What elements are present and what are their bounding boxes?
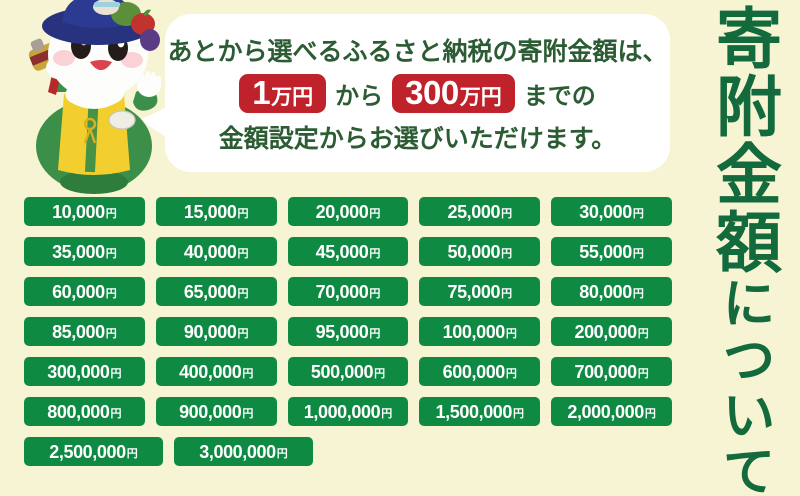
yen-unit: 円: [633, 209, 644, 220]
min-amount-unit: 万円: [271, 87, 313, 108]
yen-unit: 円: [106, 329, 117, 340]
yen-unit: 円: [645, 409, 656, 420]
amount-button-1000000[interactable]: 1,000,000円: [288, 397, 409, 426]
amount-button-700000[interactable]: 700,000円: [551, 357, 672, 386]
vertical-title-char: い: [723, 392, 775, 444]
range-suffix: までの: [524, 76, 596, 111]
amount-button-900000[interactable]: 900,000円: [156, 397, 277, 426]
amount-value: 55,000: [579, 243, 632, 261]
amount-value: 100,000: [443, 323, 505, 341]
yen-unit: 円: [369, 329, 380, 340]
vertical-title-char: 寄: [716, 8, 782, 74]
amount-button-2500000[interactable]: 2,500,000円: [24, 437, 163, 466]
amount-button-100000[interactable]: 100,000円: [419, 317, 540, 346]
amount-value: 400,000: [179, 363, 241, 381]
amount-row: 300,000円400,000円500,000円600,000円700,000円: [24, 357, 672, 386]
amount-value: 20,000: [316, 203, 369, 221]
amount-value: 40,000: [184, 243, 237, 261]
amount-value: 900,000: [179, 403, 241, 421]
yen-unit: 円: [381, 409, 392, 420]
amount-button-90000[interactable]: 90,000円: [156, 317, 277, 346]
donation-amount-grid: 10,000円15,000円20,000円25,000円30,000円35,00…: [24, 197, 672, 466]
amount-value: 600,000: [443, 363, 505, 381]
amount-value: 95,000: [316, 323, 369, 341]
vertical-title-char: て: [723, 448, 775, 496]
amount-value: 500,000: [311, 363, 373, 381]
amount-button-300000[interactable]: 300,000円: [24, 357, 145, 386]
amount-button-600000[interactable]: 600,000円: [419, 357, 540, 386]
range-conjunction: から: [335, 76, 383, 111]
mascot-character: [6, 0, 186, 196]
amount-button-500000[interactable]: 500,000円: [288, 357, 409, 386]
amount-button-85000[interactable]: 85,000円: [24, 317, 145, 346]
amount-value: 65,000: [184, 283, 237, 301]
amount-value: 35,000: [52, 243, 105, 261]
amount-value: 60,000: [52, 283, 105, 301]
bubble-line-1: あとから選べるふるさと納税の寄附金額は、: [167, 32, 667, 68]
amount-button-1500000[interactable]: 1,500,000円: [419, 397, 540, 426]
yen-unit: 円: [106, 249, 117, 260]
amount-value: 80,000: [579, 283, 632, 301]
min-amount-number: 1: [252, 76, 270, 109]
amount-button-45000[interactable]: 45,000円: [288, 237, 409, 266]
yen-unit: 円: [111, 369, 122, 380]
amount-value: 200,000: [574, 323, 636, 341]
amount-button-3000000[interactable]: 3,000,000円: [174, 437, 313, 466]
amount-value: 10,000: [52, 203, 105, 221]
amount-value: 2,500,000: [49, 443, 125, 461]
yen-unit: 円: [633, 289, 644, 300]
yen-unit: 円: [501, 209, 512, 220]
amount-row: 85,000円90,000円95,000円100,000円200,000円: [24, 317, 672, 346]
amount-row: 2,500,000円3,000,000円: [24, 437, 672, 466]
amount-value: 45,000: [316, 243, 369, 261]
yen-unit: 円: [238, 329, 249, 340]
amount-button-95000[interactable]: 95,000円: [288, 317, 409, 346]
yen-unit: 円: [238, 289, 249, 300]
max-amount-unit: 万円: [460, 87, 502, 108]
amount-value: 30,000: [579, 203, 632, 221]
amount-value: 2,000,000: [567, 403, 643, 421]
vertical-title-char: に: [723, 280, 775, 332]
yen-unit: 円: [513, 409, 524, 420]
amount-value: 70,000: [316, 283, 369, 301]
amount-button-40000[interactable]: 40,000円: [156, 237, 277, 266]
vertical-page-title: 寄附金額について: [706, 8, 792, 490]
amount-value: 50,000: [447, 243, 500, 261]
yen-unit: 円: [506, 329, 517, 340]
bubble-line-2: 1万円 から 300万円 までの: [239, 74, 595, 113]
yen-unit: 円: [242, 369, 253, 380]
amount-button-35000[interactable]: 35,000円: [24, 237, 145, 266]
amount-value: 800,000: [47, 403, 109, 421]
amount-button-15000[interactable]: 15,000円: [156, 197, 277, 226]
yen-unit: 円: [506, 369, 517, 380]
max-amount-number: 300: [405, 76, 459, 109]
vertical-title-char: 金: [716, 144, 782, 210]
amount-value: 1,500,000: [436, 403, 512, 421]
amount-value: 75,000: [447, 283, 500, 301]
amount-button-20000[interactable]: 20,000円: [288, 197, 409, 226]
donation-amount-banner: あとから選べるふるさと納税の寄附金額は、 1万円 から 300万円 までの 金額…: [0, 0, 800, 496]
yen-unit: 円: [277, 449, 288, 460]
yen-unit: 円: [501, 249, 512, 260]
amount-value: 3,000,000: [199, 443, 275, 461]
amount-value: 700,000: [574, 363, 636, 381]
amount-button-55000[interactable]: 55,000円: [551, 237, 672, 266]
max-amount-badge: 300万円: [392, 74, 515, 113]
bubble-line-3: 金額設定からお選びいただけます。: [219, 119, 617, 155]
amount-value: 25,000: [447, 203, 500, 221]
yen-unit: 円: [111, 409, 122, 420]
yen-unit: 円: [238, 249, 249, 260]
yen-unit: 円: [242, 409, 253, 420]
amount-row: 60,000円65,000円70,000円75,000円80,000円: [24, 277, 672, 306]
amount-row: 10,000円15,000円20,000円25,000円30,000円: [24, 197, 672, 226]
vertical-title-char: 額: [716, 212, 782, 278]
vertical-title-char: 附: [716, 76, 782, 142]
amount-button-50000[interactable]: 50,000円: [419, 237, 540, 266]
yen-unit: 円: [369, 209, 380, 220]
yen-unit: 円: [374, 369, 385, 380]
amount-button-70000[interactable]: 70,000円: [288, 277, 409, 306]
amount-button-60000[interactable]: 60,000円: [24, 277, 145, 306]
amount-row: 800,000円900,000円1,000,000円1,500,000円2,00…: [24, 397, 672, 426]
speech-bubble: あとから選べるふるさと納税の寄附金額は、 1万円 から 300万円 までの 金額…: [165, 14, 670, 172]
amount-button-25000[interactable]: 25,000円: [419, 197, 540, 226]
amount-button-10000[interactable]: 10,000円: [24, 197, 145, 226]
amount-button-65000[interactable]: 65,000円: [156, 277, 277, 306]
yen-unit: 円: [638, 329, 649, 340]
yen-unit: 円: [106, 209, 117, 220]
min-amount-badge: 1万円: [239, 74, 326, 113]
amount-button-400000[interactable]: 400,000円: [156, 357, 277, 386]
amount-button-2000000[interactable]: 2,000,000円: [551, 397, 672, 426]
amount-button-800000[interactable]: 800,000円: [24, 397, 145, 426]
amount-value: 85,000: [52, 323, 105, 341]
amount-value: 90,000: [184, 323, 237, 341]
amount-value: 15,000: [184, 203, 237, 221]
amount-button-75000[interactable]: 75,000円: [419, 277, 540, 306]
yen-unit: 円: [127, 449, 138, 460]
yen-unit: 円: [501, 289, 512, 300]
amount-row: 35,000円40,000円45,000円50,000円55,000円: [24, 237, 672, 266]
amount-button-30000[interactable]: 30,000円: [551, 197, 672, 226]
amount-value: 1,000,000: [304, 403, 380, 421]
yen-unit: 円: [106, 289, 117, 300]
amount-value: 300,000: [47, 363, 109, 381]
yen-unit: 円: [238, 209, 249, 220]
amount-button-80000[interactable]: 80,000円: [551, 277, 672, 306]
yen-unit: 円: [369, 289, 380, 300]
amount-button-200000[interactable]: 200,000円: [551, 317, 672, 346]
vertical-title-char: つ: [723, 336, 775, 388]
yen-unit: 円: [633, 249, 644, 260]
yen-unit: 円: [369, 249, 380, 260]
yen-unit: 円: [638, 369, 649, 380]
